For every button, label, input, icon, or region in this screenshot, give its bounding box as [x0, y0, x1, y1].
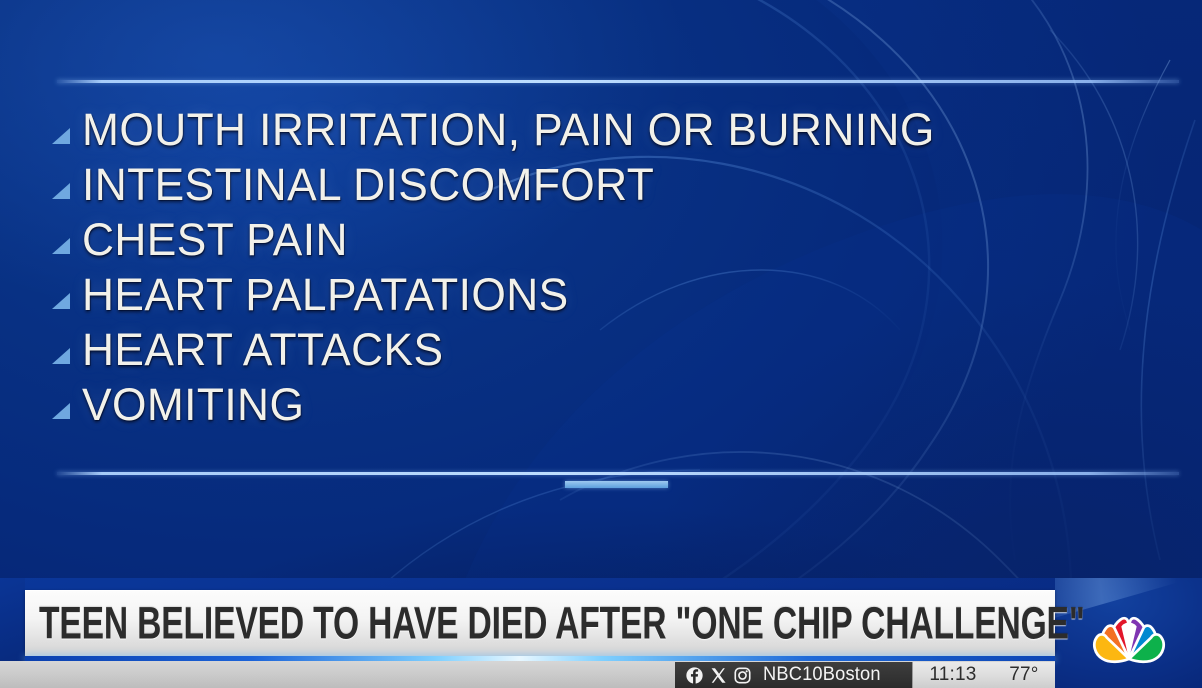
time-temperature-strip: 11:13 77°	[912, 662, 1055, 688]
triangle-bullet-icon	[52, 293, 70, 309]
lower-third-left-cap	[0, 578, 25, 661]
symptom-label: HEART PALPATATIONS	[82, 272, 569, 318]
triangle-bullet-icon	[52, 403, 70, 419]
social-handle-label: NBC10Boston	[763, 664, 881, 686]
symptom-label: MOUTH IRRITATION, PAIN OR BURNING	[82, 107, 935, 153]
list-item: VOMITING	[52, 373, 1052, 428]
accent-bar	[565, 481, 668, 488]
facebook-icon[interactable]	[686, 667, 703, 684]
symptom-list: MOUTH IRRITATION, PAIN OR BURNING INTEST…	[52, 98, 1052, 428]
list-item: HEART PALPATATIONS	[52, 263, 1052, 318]
social-handle-strip[interactable]: NBC10Boston	[675, 662, 912, 688]
clock-time: 11:13	[929, 664, 976, 686]
headline-text: TEEN BELIEVED TO HAVE DIED AFTER "ONE CH…	[39, 598, 1085, 650]
divider-line-top	[57, 80, 1179, 83]
temperature-value: 77°	[1009, 664, 1038, 686]
list-item: MOUTH IRRITATION, PAIN OR BURNING	[52, 98, 1052, 153]
nbc-peacock-logo-icon	[1086, 606, 1172, 664]
triangle-bullet-icon	[52, 348, 70, 364]
triangle-bullet-icon	[52, 183, 70, 199]
triangle-bullet-icon	[52, 128, 70, 144]
instagram-icon[interactable]	[734, 667, 751, 684]
broadcast-frame: MOUTH IRRITATION, PAIN OR BURNING INTEST…	[0, 0, 1202, 688]
x-twitter-icon[interactable]	[710, 667, 727, 684]
lower-third: TEEN BELIEVED TO HAVE DIED AFTER "ONE CH…	[0, 578, 1202, 688]
list-item: HEART ATTACKS	[52, 318, 1052, 373]
headline-panel: TEEN BELIEVED TO HAVE DIED AFTER "ONE CH…	[25, 590, 1055, 656]
symptom-label: HEART ATTACKS	[82, 327, 443, 373]
list-item: CHEST PAIN	[52, 208, 1052, 263]
symptom-label: INTESTINAL DISCOMFORT	[82, 162, 654, 208]
list-item: INTESTINAL DISCOMFORT	[52, 153, 1052, 208]
symptom-label: CHEST PAIN	[82, 217, 348, 263]
triangle-bullet-icon	[52, 238, 70, 254]
divider-line-bottom	[57, 472, 1179, 475]
symptom-label: VOMITING	[82, 382, 304, 428]
